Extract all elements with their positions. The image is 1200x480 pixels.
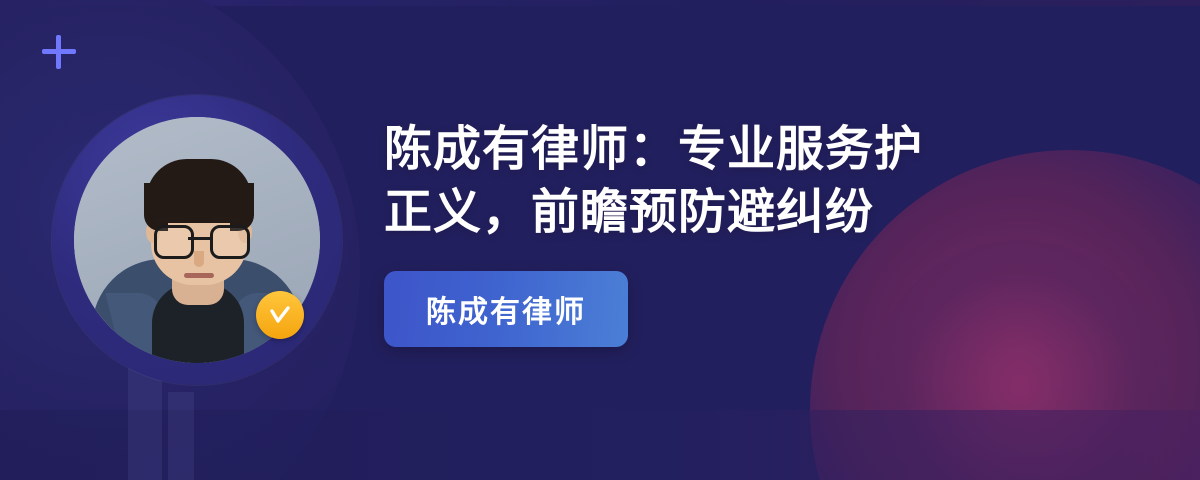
plus-icon: [42, 35, 76, 69]
avatar: [52, 95, 342, 385]
photo-hair-side-left: [144, 183, 168, 231]
photo-mouth: [184, 273, 214, 278]
banner-content: 陈成有律师：专业服务护 正义，前瞻预防避纠纷 陈成有律师: [384, 118, 1144, 347]
photo-glasses-right: [210, 225, 250, 259]
lawyer-promo-banner: 陈成有律师：专业服务护 正义，前瞻预防避纠纷 陈成有律师: [0, 0, 1200, 480]
photo-glasses-left: [154, 225, 194, 259]
photo-eyebrow-left: [156, 217, 186, 222]
verified-badge-icon: [256, 291, 304, 339]
page-title: 陈成有律师：专业服务护 正义，前瞻预防避纠纷: [384, 118, 1144, 245]
decorative-bar-right: [168, 392, 194, 480]
photo-nose: [194, 251, 204, 267]
photo-glasses-bridge: [188, 237, 210, 240]
photo-hair-side-right: [230, 183, 254, 231]
photo-eyebrow-right: [212, 217, 242, 222]
lawyer-name-chip[interactable]: 陈成有律师: [384, 271, 628, 347]
